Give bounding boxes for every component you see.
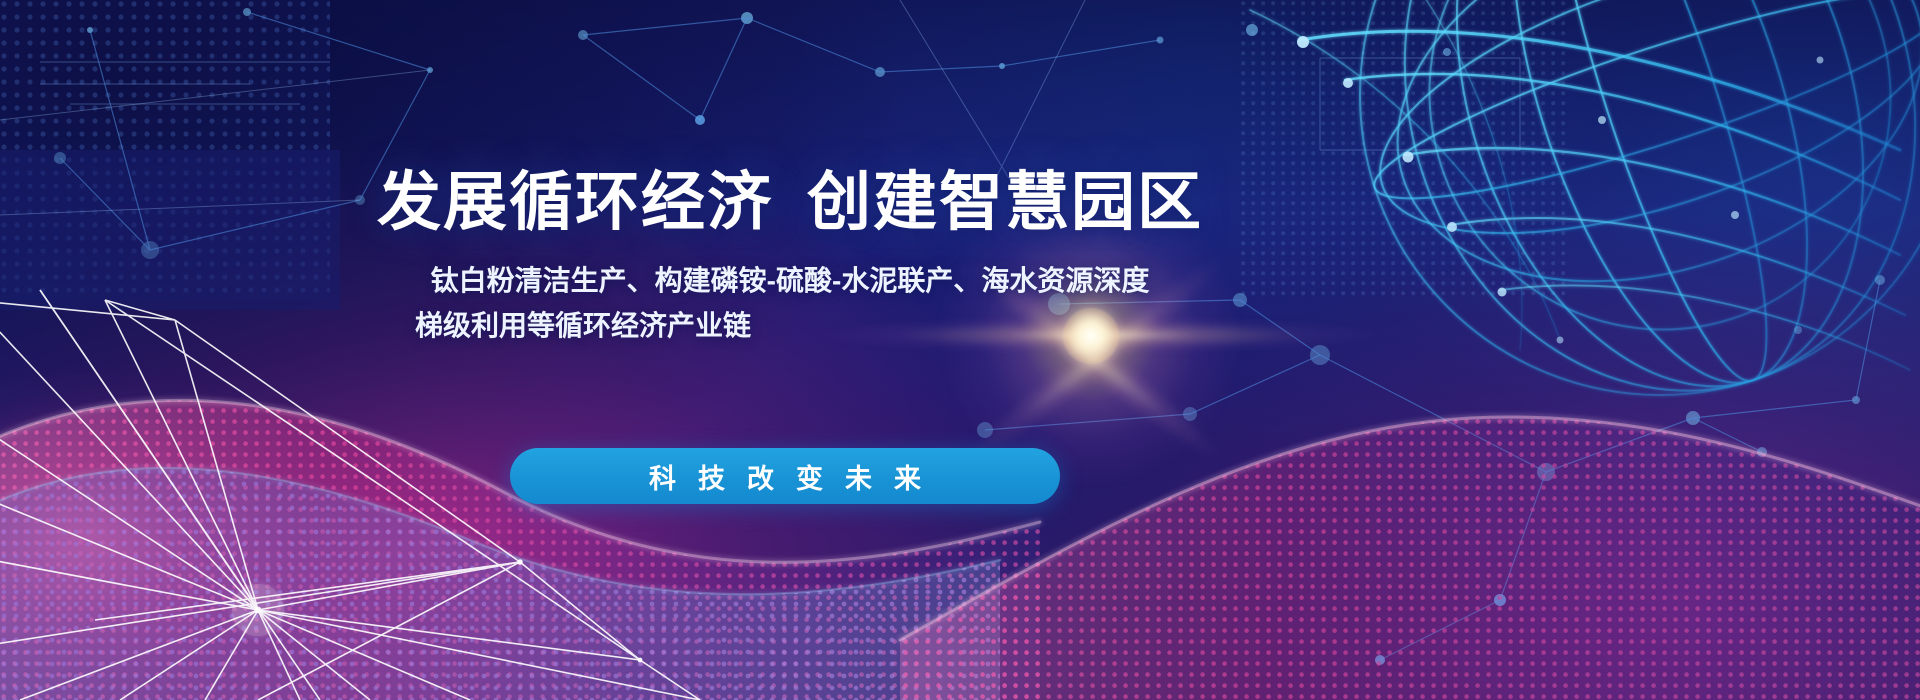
headline-part-1: 发展循环经济 bbox=[377, 166, 773, 238]
subtitle-line-1: 钛白粉清洁生产、构建磷铵-硫酸-水泥联产、海水资源深度 bbox=[0, 258, 1580, 303]
headline-part-2: 创建智慧园区 bbox=[807, 166, 1203, 238]
page-title: 发展循环经济创建智慧园区 bbox=[0, 168, 1580, 237]
subtitle-line-2: 梯级利用等循环经济产业链 bbox=[405, 303, 1175, 348]
banner-content: 发展循环经济创建智慧园区 钛白粉清洁生产、构建磷铵-硫酸-水泥联产、海水资源深度… bbox=[0, 0, 1920, 700]
cta-button[interactable]: 科技改变未来 bbox=[510, 448, 1060, 504]
subtitle: 钛白粉清洁生产、构建磷铵-硫酸-水泥联产、海水资源深度 梯级利用等循环经济产业链 bbox=[0, 258, 1580, 349]
hero-banner: 发展循环经济创建智慧园区 钛白粉清洁生产、构建磷铵-硫酸-水泥联产、海水资源深度… bbox=[0, 0, 1920, 700]
